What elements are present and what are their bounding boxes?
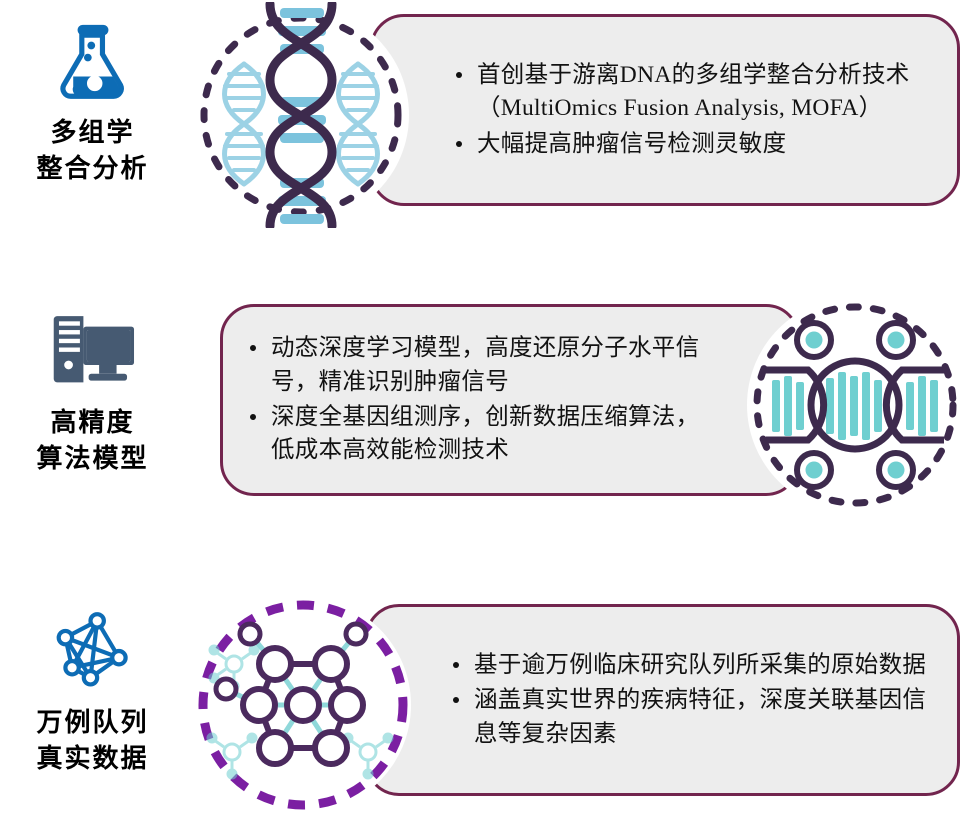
label-line-1: 高精度 [50, 408, 134, 437]
dna-helix-circle-icon [188, 2, 414, 228]
flask-icon [0, 8, 185, 113]
content-panel-multiomics: 首创基于游离DNA的多组学整合分析技术（MultiOmics Fusion An… [370, 14, 960, 206]
feature-row-multiomics: 多组学 整合分析 首创基于游离DNA的多组学整合分析技术（MultiOmics … [0, 0, 970, 230]
label-text-cohort: 万例队列 真实数据 [0, 705, 185, 777]
label-column-multiomics: 多组学 整合分析 [0, 0, 185, 230]
bullet-item: 动态深度学习模型，高度还原分子水平信号，精准识别肿瘤信号 [245, 332, 707, 399]
bullet-item: 深度全基因组测序，创新数据压缩算法，低成本高效能检测技术 [245, 401, 707, 468]
feature-row-cohort: 万例队列 真实数据 基于逾万例临床研究队列所采集的原始数据 涵盖真实世界的疾病特… [0, 590, 970, 820]
label-text-multiomics: 多组学 整合分析 [0, 115, 185, 187]
label-column-algorithm: 高精度 算法模型 [0, 290, 185, 520]
label-line-2: 真实数据 [0, 741, 185, 777]
label-line-2: 算法模型 [0, 441, 185, 477]
bullet-list-algorithm: 动态深度学习模型，高度还原分子水平信号，精准识别肿瘤信号 深度全基因组测序，创新… [245, 307, 707, 493]
content-panel-cohort: 基于逾万例临床研究队列所采集的原始数据 涵盖真实世界的疾病特征，深度关联基因信息… [365, 604, 960, 796]
label-column-cohort: 万例队列 真实数据 [0, 590, 185, 820]
bullet-item: 大幅提高肿瘤信号检测灵敏度 [451, 128, 935, 161]
network-nodes-icon [0, 598, 185, 703]
bullet-list-cohort: 基于逾万例临床研究队列所采集的原始数据 涵盖真实世界的疾病特征，深度关联基因信息… [448, 607, 935, 793]
content-panel-algorithm: 动态深度学习模型，高度还原分子水平信号，精准识别肿瘤信号 深度全基因组测序，创新… [220, 304, 800, 496]
feature-row-algorithm: 高精度 算法模型 动态深度学习模型，高度还原分子水平信号，精准识别肿瘤信号 深度… [0, 290, 970, 520]
bullet-item: 基于逾万例临床研究队列所采集的原始数据 [448, 649, 935, 682]
dna-barcode-circle-icon [742, 292, 968, 518]
bullet-item: 涵盖真实世界的疾病特征，深度关联基因信息等复杂因素 [448, 684, 935, 751]
label-line-2: 整合分析 [0, 151, 185, 187]
bullet-list-multiomics: 首创基于游离DNA的多组学整合分析技术（MultiOmics Fusion An… [451, 17, 935, 203]
label-line-1: 万例队列 [36, 708, 148, 737]
label-text-algorithm: 高精度 算法模型 [0, 405, 185, 477]
label-line-1: 多组学 [50, 118, 134, 147]
computer-icon [0, 298, 185, 403]
molecule-network-circle-icon [190, 592, 416, 818]
bullet-item: 首创基于游离DNA的多组学整合分析技术（MultiOmics Fusion An… [451, 59, 935, 126]
